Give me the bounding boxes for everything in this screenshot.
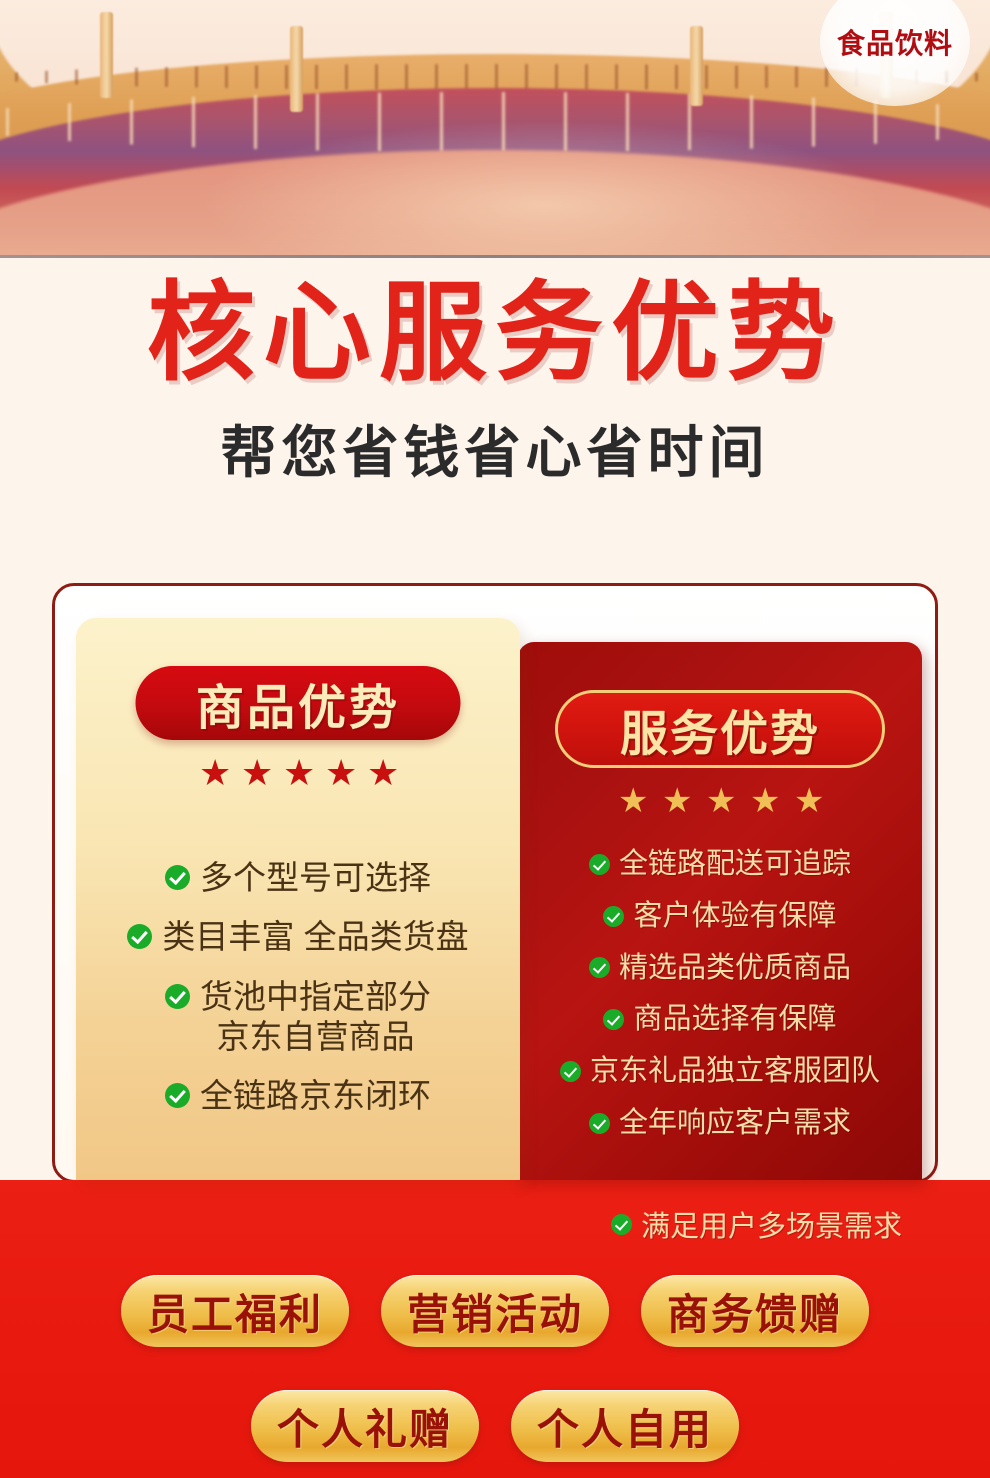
star-icon: ★ bbox=[706, 787, 734, 815]
title-block: 核心服务优势 帮您省钱省心省时间 bbox=[0, 275, 990, 489]
star-icon: ★ bbox=[241, 758, 271, 788]
service-rating-stars: ★★★★★ bbox=[518, 787, 922, 815]
star-icon: ★ bbox=[283, 758, 313, 788]
scenario-pill-label: 员工福利 bbox=[147, 1281, 323, 1342]
product-detail-page: 食品饮料 核心服务优势 帮您省钱省心省时间 商品优势 ★★★★★ 多个型号可选择… bbox=[0, 0, 990, 1478]
product-advantage-card: 商品优势 ★★★★★ 多个型号可选择类目丰富 全品类货盘货池中指定部分京东自营商… bbox=[76, 618, 520, 1180]
scenario-extra-item: 满足用户多场景需求 bbox=[611, 1203, 902, 1245]
list-item: 全链路京东闭环 bbox=[76, 1076, 520, 1116]
list-item-label: 精选品类优质商品 bbox=[619, 951, 851, 986]
product-rating-stars: ★★★★★ bbox=[76, 758, 520, 788]
check-icon bbox=[589, 854, 610, 875]
list-item: 京东礼品独立客服团队 bbox=[518, 1054, 922, 1089]
scenario-pill[interactable]: 个人礼赠 bbox=[251, 1390, 479, 1462]
service-advantage-card: 服务优势 ★★★★★ 全链路配送可追踪客户体验有保障精选品类优质商品商品选择有保… bbox=[518, 642, 922, 1180]
list-item: 全年响应客户需求 bbox=[518, 1106, 922, 1141]
scenario-extra-label: 满足用户多场景需求 bbox=[641, 1203, 902, 1245]
list-item: 货池中指定部分京东自营商品 bbox=[76, 977, 520, 1058]
list-item-label: 多个型号可选择 bbox=[200, 858, 431, 898]
scenario-pill[interactable]: 商务馈赠 bbox=[641, 1275, 869, 1347]
product-advantage-badge-label: 商品优势 bbox=[196, 668, 400, 738]
star-icon: ★ bbox=[750, 787, 778, 815]
scenario-pill-label: 个人礼赠 bbox=[277, 1396, 453, 1457]
service-advantage-list: 全链路配送可追踪客户体验有保障精选品类优质商品商品选择有保障京东礼品独立客服团队… bbox=[518, 847, 922, 1158]
list-item-label: 京东礼品独立客服团队 bbox=[590, 1054, 880, 1089]
star-icon: ★ bbox=[618, 787, 646, 815]
service-advantage-badge: 服务优势 bbox=[555, 690, 885, 768]
check-icon bbox=[589, 1113, 610, 1134]
page-title: 核心服务优势 bbox=[0, 275, 990, 392]
hero-banner-image: 食品饮料 bbox=[0, 0, 990, 258]
list-item-label: 全链路配送可追踪 bbox=[619, 847, 851, 882]
hero-bottom-divider bbox=[0, 255, 990, 258]
scenario-pill[interactable]: 个人自用 bbox=[511, 1390, 739, 1462]
product-advantage-list: 多个型号可选择类目丰富 全品类货盘货池中指定部分京东自营商品全链路京东闭环 bbox=[76, 858, 520, 1135]
list-item-label: 类目丰富 全品类货盘 bbox=[162, 917, 468, 957]
check-icon bbox=[165, 865, 190, 890]
star-icon: ★ bbox=[662, 787, 690, 815]
scenario-section: 满足用户多场景需求 员工福利营销活动商务馈赠 个人礼赠个人自用 bbox=[0, 1180, 990, 1478]
page-subtitle: 帮您省钱省心省时间 bbox=[0, 408, 990, 489]
star-icon: ★ bbox=[199, 758, 229, 788]
hero-post-icon bbox=[290, 26, 303, 112]
service-advantage-badge-label: 服务优势 bbox=[620, 694, 820, 764]
check-icon bbox=[560, 1061, 581, 1082]
check-icon bbox=[603, 1009, 624, 1030]
list-item: 多个型号可选择 bbox=[76, 858, 520, 898]
list-item-label: 全链路京东闭环 bbox=[200, 1076, 431, 1116]
list-item: 类目丰富 全品类货盘 bbox=[76, 917, 520, 957]
list-item-label: 货池中指定部分京东自营商品 bbox=[200, 977, 431, 1058]
scenario-pill[interactable]: 员工福利 bbox=[121, 1275, 349, 1347]
scenario-pill-label: 营销活动 bbox=[407, 1281, 583, 1342]
scenario-pill-row-2: 个人礼赠个人自用 bbox=[0, 1390, 990, 1462]
product-advantage-badge: 商品优势 bbox=[136, 666, 461, 740]
list-item-label: 全年响应客户需求 bbox=[619, 1106, 851, 1141]
list-item: 商品选择有保障 bbox=[518, 1002, 922, 1037]
scenario-pill[interactable]: 营销活动 bbox=[381, 1275, 609, 1347]
check-icon bbox=[165, 984, 190, 1009]
check-icon bbox=[127, 924, 152, 949]
list-item: 精选品类优质商品 bbox=[518, 951, 922, 986]
list-item: 客户体验有保障 bbox=[518, 899, 922, 934]
star-icon: ★ bbox=[367, 758, 397, 788]
hero-post-icon bbox=[100, 12, 113, 98]
check-icon bbox=[165, 1083, 190, 1108]
category-badge-label: 食品饮料 bbox=[837, 22, 953, 62]
check-icon bbox=[611, 1214, 632, 1235]
scenario-pill-row-1: 员工福利营销活动商务馈赠 bbox=[0, 1275, 990, 1347]
check-icon bbox=[603, 906, 624, 927]
hero-post-icon bbox=[690, 26, 703, 106]
star-icon: ★ bbox=[325, 758, 355, 788]
scenario-pill-label: 个人自用 bbox=[537, 1396, 713, 1457]
star-icon: ★ bbox=[794, 787, 822, 815]
check-icon bbox=[589, 957, 610, 978]
scenario-pill-label: 商务馈赠 bbox=[667, 1281, 843, 1342]
list-item-label: 客户体验有保障 bbox=[633, 899, 836, 934]
list-item-label: 商品选择有保障 bbox=[633, 1002, 836, 1037]
list-item: 全链路配送可追踪 bbox=[518, 847, 922, 882]
